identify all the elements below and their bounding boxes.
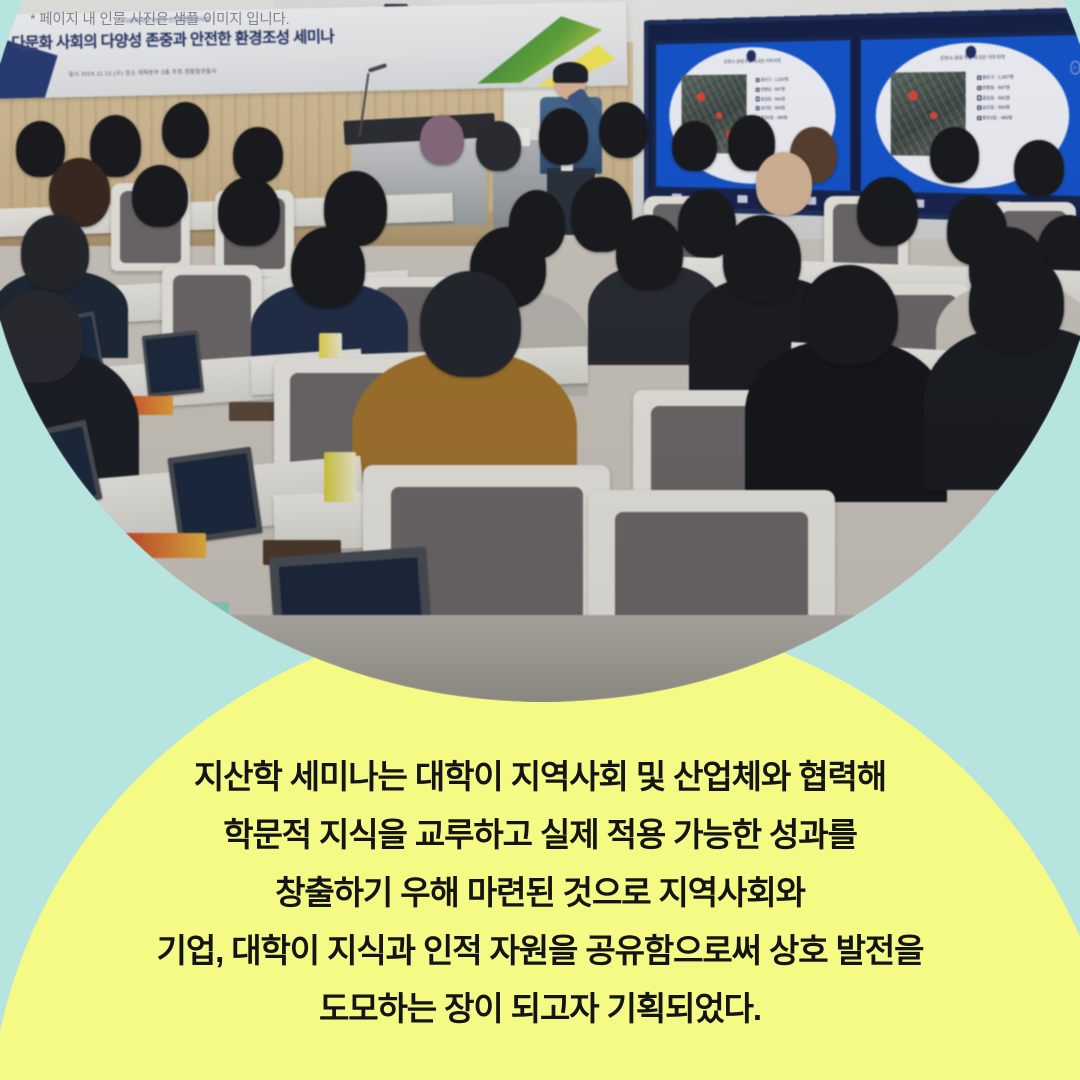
audience-head: [162, 102, 209, 158]
audience-head: [672, 121, 717, 171]
copy-line: 기업, 대학이 지식과 인적 자원을 공유함으로써 상호 발전을: [0, 922, 1080, 980]
tablet-device: [142, 331, 204, 399]
audience-head: [218, 177, 281, 246]
display-brand-logo: P: [1070, 61, 1080, 74]
audience-head: [723, 215, 802, 302]
audience-head: [539, 108, 588, 164]
audience-head: [233, 127, 282, 183]
audience-head: [599, 102, 648, 158]
seminar-photo-circle: 다문화사회 존중과 안전환경조성사업 다문화 사회의 다양성 존중과 안전한 환…: [0, 0, 1080, 702]
beverage-can: [324, 452, 355, 502]
audience-hand: [0, 490, 72, 571]
audience-head: [420, 271, 521, 377]
seminar-photo: 다문화사회 존중과 안전환경조성사업 다문화 사회의 다양성 존중과 안전한 환…: [0, 0, 1080, 702]
audience-head: [476, 121, 521, 171]
audience-head: [857, 177, 918, 246]
audience-head: [21, 215, 88, 290]
audience-head: [616, 215, 683, 290]
audience-head: [420, 115, 465, 165]
audience-head: [930, 127, 979, 183]
floor: [0, 615, 1080, 702]
card-news-slide: 다문화사회 존중과 안전환경조성사업 다문화 사회의 다양성 존중과 안전한 환…: [0, 0, 1080, 1080]
audience-seating: [0, 77, 1080, 702]
copy-line: 창출하기 우해 마련된 것으로 지역사회와: [0, 864, 1080, 922]
audience-head: [132, 165, 188, 227]
lecture-hall-scene: 다문화사회 존중과 안전환경조성사업 다문화 사회의 다양성 존중과 안전한 환…: [0, 0, 1080, 702]
audience-head: [756, 152, 812, 214]
copy-line: 도모하는 장이 되고자 기획되었다.: [0, 980, 1080, 1038]
audience-head: [0, 290, 83, 384]
sample-image-disclaimer: * 페이지 내 인물 사진은 샘플 이미지 입니다.: [30, 8, 289, 29]
copy-line: 지산학 세미나는 대학이 지역사회 및 산업체와 협력해: [0, 748, 1080, 806]
audience-head: [801, 265, 897, 365]
body-copy: 지산학 세미나는 대학이 지역사회 및 산업체와 협력해 학문적 지식을 교루하…: [0, 748, 1080, 1038]
audience-head: [969, 252, 1063, 352]
audience-head: [1014, 140, 1063, 196]
tablet-device: [167, 447, 262, 545]
audience-shoulders: [924, 327, 1080, 489]
audience-head: [291, 227, 365, 308]
copy-line: 학문적 지식을 교루하고 실제 적용 가능한 성과를: [0, 806, 1080, 864]
